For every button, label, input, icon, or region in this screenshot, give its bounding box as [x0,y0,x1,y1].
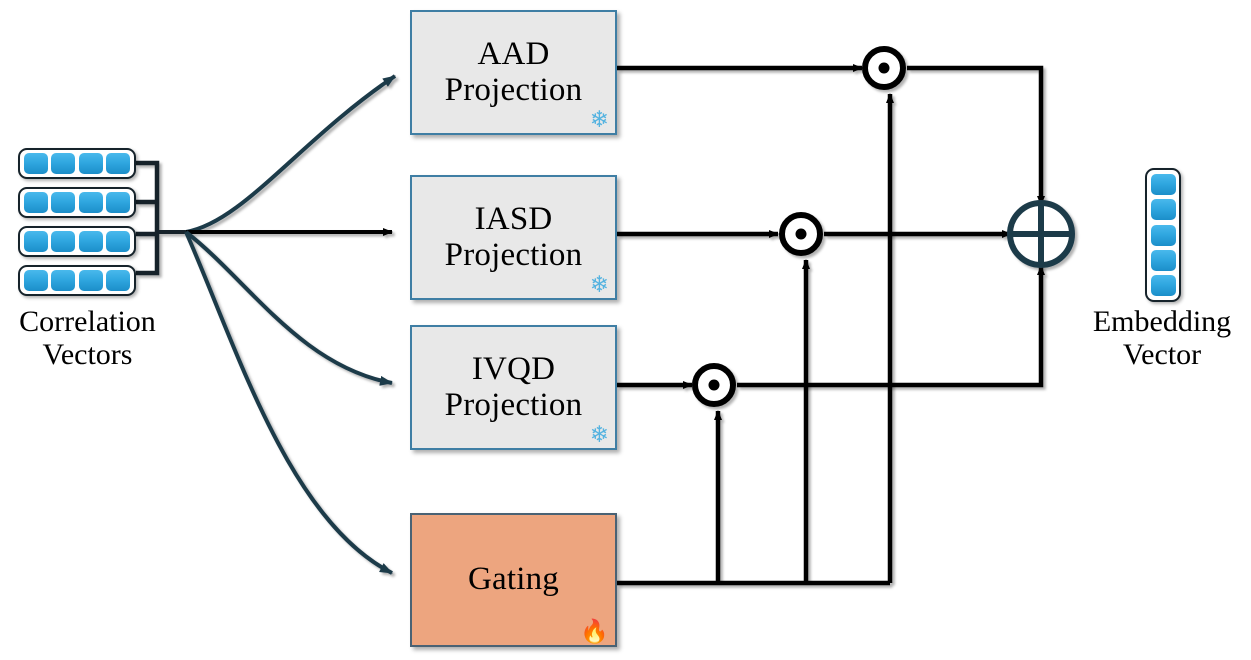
vector-cell [51,153,75,174]
vector-cell [79,153,103,174]
correlation-vector-row [18,265,136,296]
vector-cell [51,270,75,291]
vector-cell [1151,174,1176,195]
wire-input-to-gating [186,232,392,573]
wire-mul-ivqd-to-sum [737,266,1041,385]
correlation-vectors-caption: Correlation Vectors [0,305,175,371]
vector-cell [1151,275,1176,296]
gating-bus-wires [617,94,890,583]
block-gating-label: Gating [468,562,559,598]
vector-cell [51,192,75,213]
correlation-vector-row [18,187,136,218]
block-iasd-projection-label: IASD Projection [445,202,583,273]
vector-cell [24,192,48,213]
embedding-vector [1145,168,1181,302]
vector-cell [106,270,130,291]
block-aad-projection[interactable]: AAD Projection ❄ [410,10,617,135]
vector-cell [106,153,130,174]
vector-cell [1151,199,1176,220]
vector-cell [1151,250,1176,271]
vector-cell [79,192,103,213]
block-output-wires [617,68,862,385]
wire-input-to-aad [186,76,395,232]
vector-cell [79,231,103,252]
input-bracket [136,163,186,273]
block-aad-projection-label: AAD Projection [445,37,583,108]
vector-cell [51,231,75,252]
fanout-wires [186,76,395,573]
vector-cell [79,270,103,291]
diagram-canvas: Correlation Vectors AAD Projection ❄ IAS… [0,0,1251,660]
operator-mul-iasd [782,215,820,253]
wire-input-to-ivqd [186,232,392,383]
block-gating[interactable]: Gating 🔥 [410,513,617,647]
wire-mul-aad-to-sum [907,68,1041,205]
snowflake-icon: ❄ [590,273,609,296]
correlation-vector-row [18,226,136,257]
vector-cell [24,231,48,252]
block-iasd-projection[interactable]: IASD Projection ❄ [410,175,617,300]
vector-cell [106,231,130,252]
wire-layer [0,0,1251,660]
correlation-vectors [18,148,136,296]
operator-sum [1010,203,1072,265]
snowflake-icon: ❄ [590,423,609,446]
snowflake-icon: ❄ [590,108,609,131]
block-ivqd-projection[interactable]: IVQD Projection ❄ [410,325,617,450]
vector-cell [24,270,48,291]
operator-mul-aad [865,49,903,87]
operator-mul-ivqd [695,366,733,404]
embedding-vector-caption: Embedding Vector [1073,305,1251,371]
block-ivqd-projection-label: IVQD Projection [445,352,583,423]
sum-input-wires [737,68,1041,385]
vector-cell [106,192,130,213]
correlation-vector-row [18,148,136,179]
vector-cell [24,153,48,174]
flame-icon: 🔥 [580,620,609,643]
vector-cell [1151,225,1176,246]
